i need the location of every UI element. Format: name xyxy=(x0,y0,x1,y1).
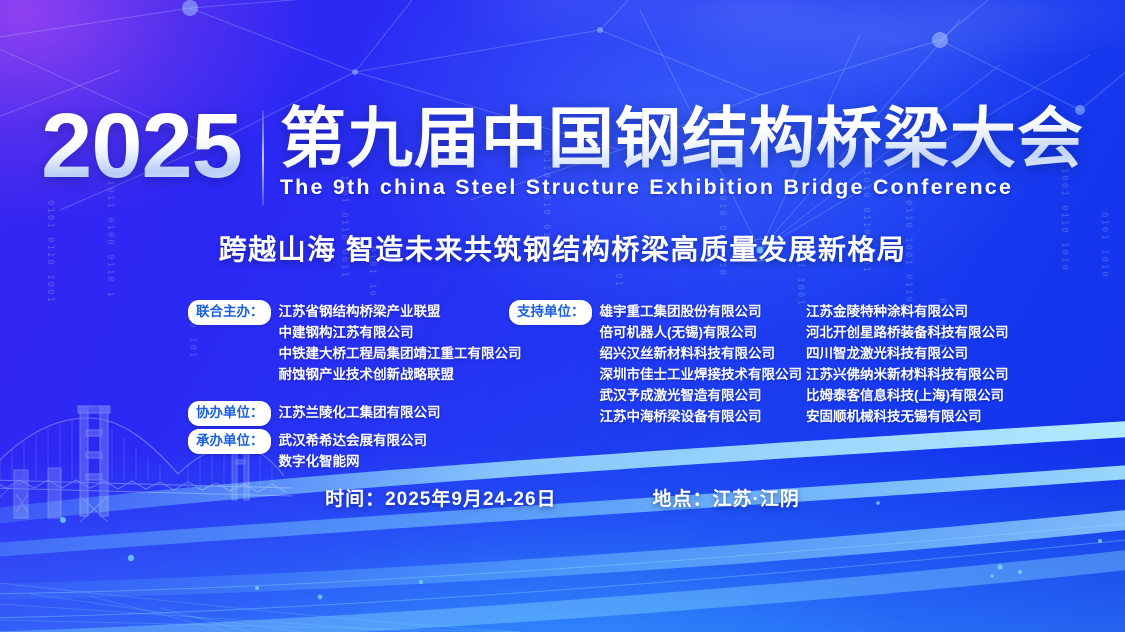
co-organizer-list: 江苏兰陵化工集团有限公司 xyxy=(279,401,441,422)
banner-header: 2025 第九届中国钢结构桥梁大会 The 9th china Steel St… xyxy=(0,104,1125,268)
organizations-section: 联合主办： 江苏省钢结构桥梁产业联盟 中建钢构江苏有限公司 中铁建大桥工程局集团… xyxy=(0,300,1125,450)
supporters-group: 支持单位： 雄宇重工集团股份有限公司 倍可机器人(无锡)有限公司 绍兴汉丝新材料… xyxy=(509,300,802,426)
conference-banner: 0101 0110 1001 1011 0100 0110 1 0110 101… xyxy=(0,0,1125,632)
list-item: 雄宇重工集团股份有限公司 xyxy=(600,303,803,321)
co-organizer-group: 协办单位： 江苏兰陵化工集团有限公司 xyxy=(188,401,441,426)
list-item: 江苏中海桥梁设备有限公司 xyxy=(600,408,803,426)
undertaker-label: 承办单位： xyxy=(188,429,271,454)
undertaker-group: 承办单位： 武汉希希达会展有限公司 数字化智能网 xyxy=(188,429,427,471)
title-divider xyxy=(262,110,264,206)
list-item: 江苏省钢结构桥梁产业联盟 xyxy=(279,303,522,321)
event-date: 时间：2025年9月24-26日 xyxy=(325,484,556,511)
title-column: 第九届中国钢结构桥梁大会 The 9th china Steel Structu… xyxy=(280,104,1084,200)
list-item: 武汉予成激光智造有限公司 xyxy=(600,387,803,405)
joint-hosts-list: 江苏省钢结构桥梁产业联盟 中建钢构江苏有限公司 中铁建大桥工程局集团靖江重工有限… xyxy=(279,300,522,384)
joint-hosts-label: 联合主办： xyxy=(188,300,271,325)
list-item: 河北开创星路桥装备科技有限公司 xyxy=(806,324,1009,342)
conference-title-chinese: 第九届中国钢结构桥梁大会 xyxy=(280,104,1084,173)
joint-hosts-group: 联合主办： 江苏省钢结构桥梁产业联盟 中建钢构江苏有限公司 中铁建大桥工程局集团… xyxy=(188,300,522,384)
list-item: 安固顺机械科技无锡有限公司 xyxy=(806,408,1009,426)
list-item: 数字化智能网 xyxy=(279,453,428,471)
list-item: 武汉希希达会展有限公司 xyxy=(279,432,428,450)
supporters-list-column-one: 雄宇重工集团股份有限公司 倍可机器人(无锡)有限公司 绍兴汉丝新材料科技有限公司… xyxy=(600,300,803,426)
event-location: 地点：江苏·江阴 xyxy=(653,484,800,511)
list-item: 四川智龙激光科技有限公司 xyxy=(806,345,1009,363)
list-item: 江苏兴佛纳米新材料科技有限公司 xyxy=(806,366,1009,384)
list-item: 绍兴汉丝新材料科技有限公司 xyxy=(600,345,803,363)
list-item: 江苏金陵特种涂料有限公司 xyxy=(806,303,1009,321)
list-item: 江苏兰陵化工集团有限公司 xyxy=(279,404,441,422)
undertaker-list: 武汉希希达会展有限公司 数字化智能网 xyxy=(279,429,428,471)
list-item: 中铁建大桥工程局集团靖江重工有限公司 xyxy=(279,345,522,363)
conference-slogan: 跨越山海 智造未来共筑钢结构桥梁高质量发展新格局 xyxy=(0,228,1125,268)
co-organizer-label: 协办单位： xyxy=(188,401,271,426)
conference-title-english: The 9th china Steel Structure Exhibition… xyxy=(280,175,1013,200)
list-item: 深圳市佳士工业焊接技术有限公司 xyxy=(600,366,803,384)
supporters-label: 支持单位： xyxy=(509,300,592,325)
supporters-list-column-two: 江苏金陵特种涂料有限公司 河北开创星路桥装备科技有限公司 四川智龙激光科技有限公… xyxy=(806,303,1009,426)
list-item: 耐蚀钢产业技术创新战略联盟 xyxy=(279,366,522,384)
year-number: 2025 xyxy=(41,104,246,189)
banner-footer: 时间：2025年9月24-26日 地点：江苏·江阴 xyxy=(0,484,1125,511)
list-item: 中建钢构江苏有限公司 xyxy=(279,324,522,342)
list-item: 比姆泰客信息科技(上海)有限公司 xyxy=(806,387,1009,405)
title-row: 2025 第九届中国钢结构桥梁大会 The 9th china Steel St… xyxy=(0,104,1125,206)
list-item: 倍可机器人(无锡)有限公司 xyxy=(600,324,803,342)
